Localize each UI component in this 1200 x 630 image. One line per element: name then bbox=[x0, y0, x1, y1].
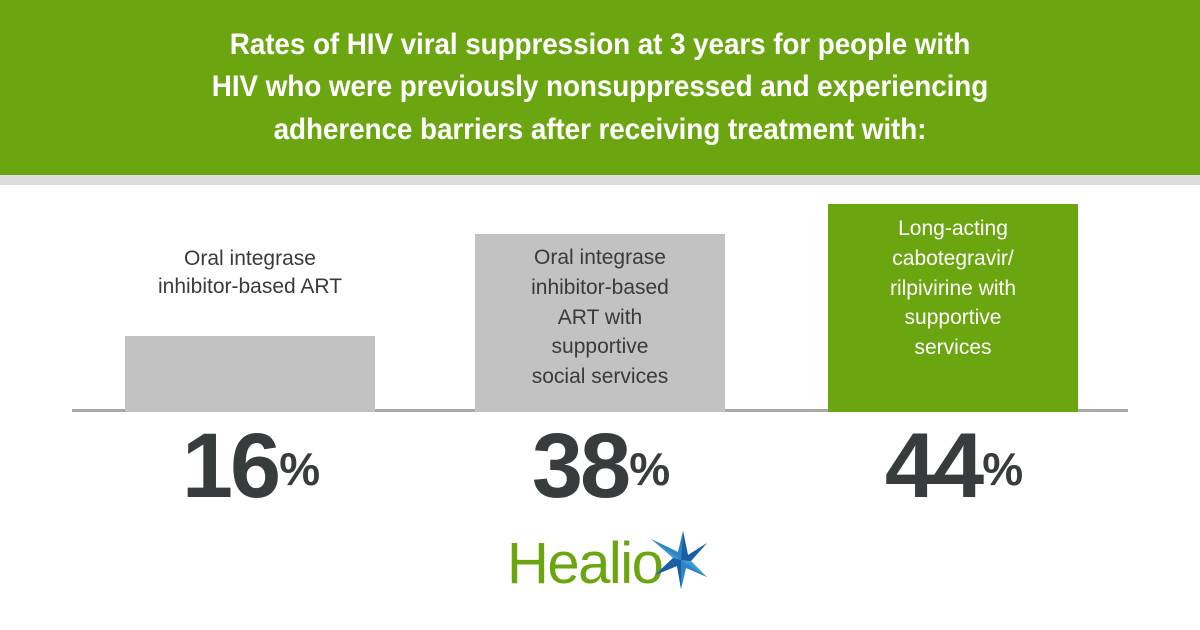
value-label-3: 44% bbox=[828, 418, 1078, 514]
percent-sign-3: % bbox=[982, 443, 1022, 495]
value-number-2: 38 bbox=[532, 415, 628, 517]
bar-group-2: Oral integrase inhibitor-based ART with … bbox=[475, 185, 725, 412]
bar-label-1: Oral integrase inhibitor-based ART bbox=[125, 245, 375, 301]
bar-label-3: Long-acting cabotegravir/ rilpivirine wi… bbox=[838, 214, 1068, 363]
page-title: Rates of HIV viral suppression at 3 year… bbox=[154, 24, 1047, 152]
percent-sign-2: % bbox=[629, 443, 669, 495]
value-number-3: 44 bbox=[885, 415, 981, 517]
percent-sign-1: % bbox=[279, 443, 319, 495]
value-label-2: 38% bbox=[475, 418, 725, 514]
header-divider bbox=[0, 175, 1200, 185]
healio-star-icon bbox=[645, 531, 707, 589]
bar-group-1: Oral integrase inhibitor-based ART bbox=[125, 185, 375, 412]
bar-group-3: Long-acting cabotegravir/ rilpivirine wi… bbox=[828, 185, 1078, 412]
value-label-1: 16% bbox=[125, 418, 375, 514]
healio-wordmark: Healio bbox=[507, 534, 662, 594]
value-labels-row: 16% 38% 44% bbox=[0, 418, 1200, 528]
header-banner: Rates of HIV viral suppression at 3 year… bbox=[0, 0, 1200, 175]
bar-rect-1 bbox=[125, 336, 375, 412]
healio-logo: Healio bbox=[0, 531, 1200, 601]
value-number-1: 16 bbox=[182, 415, 278, 517]
bar-label-2: Oral integrase inhibitor-based ART with … bbox=[485, 243, 715, 392]
